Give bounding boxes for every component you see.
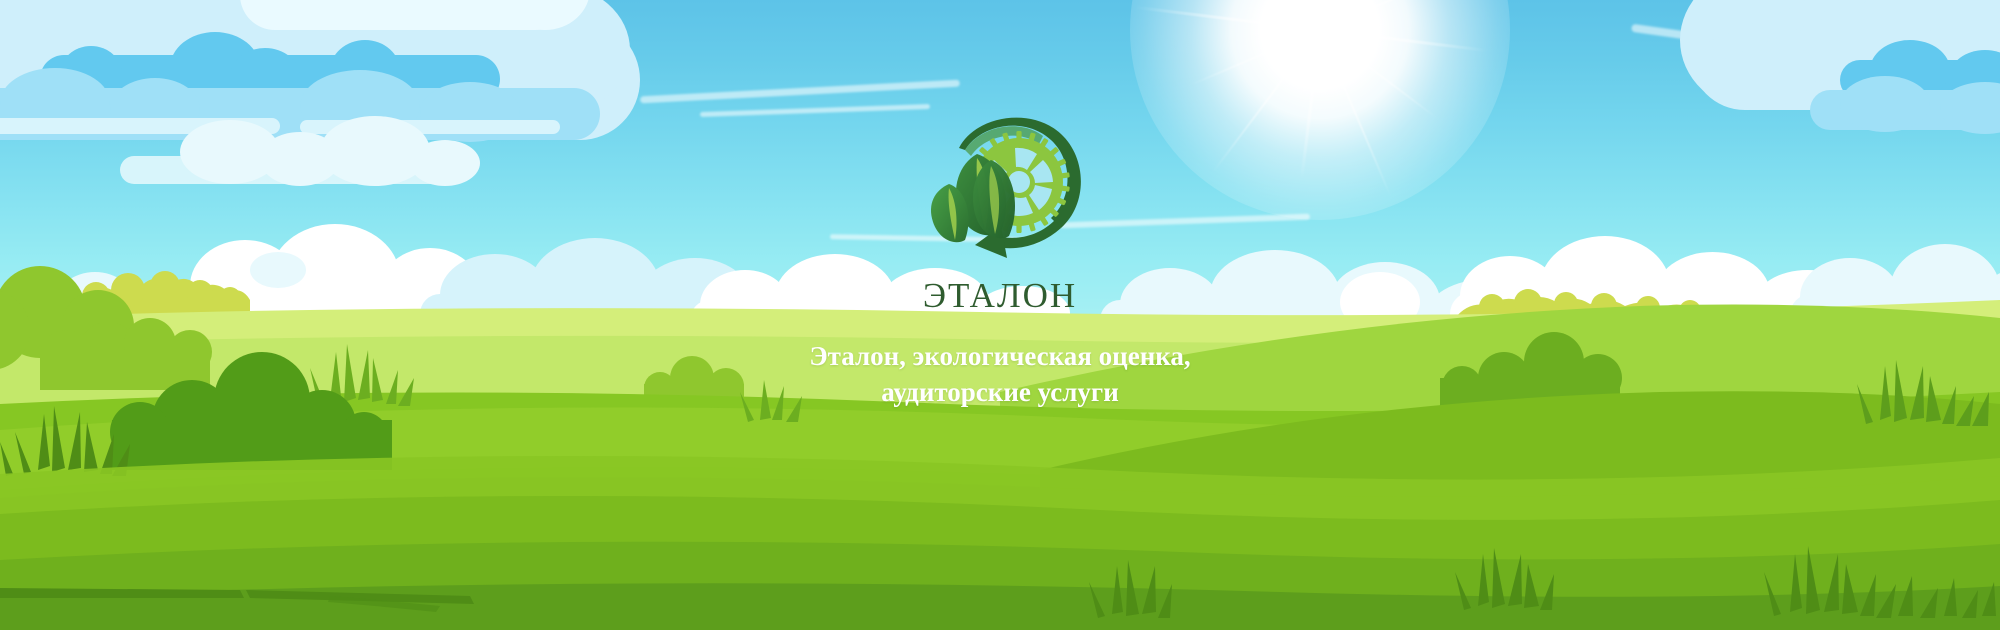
brand-tagline: Эталон, экологическая оценка, аудиторски… (0, 338, 2000, 410)
leaf-gear-eco-logo-icon (915, 108, 1095, 258)
tagline-line-1: Эталон, экологическая оценка, (0, 338, 2000, 374)
eco-landscape-banner: ЭТАЛОН Эталон, экологическая оценка, ауд… (0, 0, 2000, 630)
tagline-line-2: аудиторские услуги (0, 374, 2000, 410)
page-title: ЭТАЛОН (0, 278, 2000, 313)
meadow-landscape (0, 0, 2000, 630)
